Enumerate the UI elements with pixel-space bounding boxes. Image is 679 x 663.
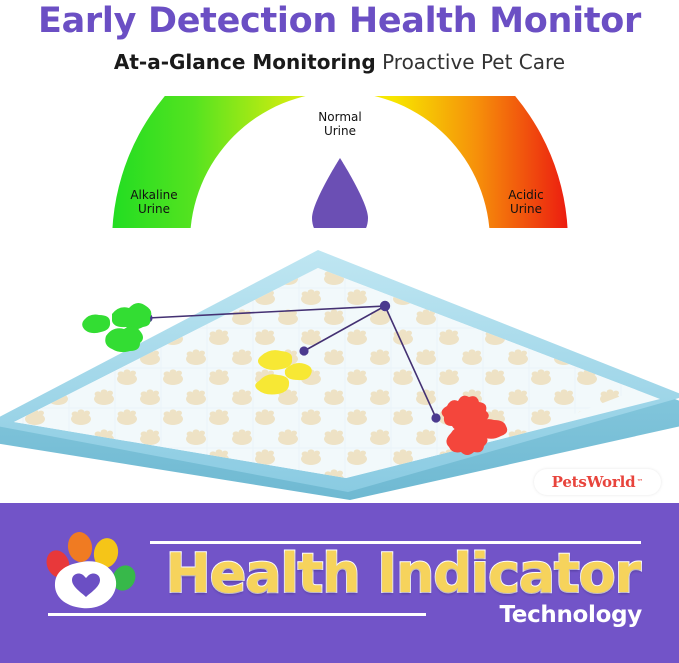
ph-gauge: Normal Urine Alkaline Urine Acidic Urine	[100, 96, 580, 246]
paw-toe-orange	[66, 530, 94, 563]
gauge-label-acidic: Acidic Urine	[478, 188, 574, 216]
node-red	[431, 413, 440, 422]
page-subtitle: At-a-Glance Monitoring Proactive Pet Car…	[0, 50, 679, 74]
product-infographic: Early Detection Health Monitor At-a-Glan…	[0, 0, 679, 663]
header: Early Detection Health Monitor At-a-Glan…	[0, 0, 679, 88]
subtitle-light: Proactive Pet Care	[382, 50, 565, 74]
health-paw-logo	[46, 528, 140, 610]
banner-subline: Technology	[330, 598, 642, 632]
node-center	[380, 301, 390, 311]
pee-pad-scene	[0, 228, 679, 500]
petsworld-brand-badge: PetsWorld™	[534, 469, 661, 495]
trademark-symbol: ™	[636, 478, 643, 486]
petsworld-brand-text: PetsWorld	[552, 474, 636, 490]
pee-pad-illustration	[0, 228, 679, 500]
gauge-label-normal: Normal Urine	[270, 110, 410, 138]
node-yellow	[299, 346, 308, 355]
gauge-label-alkaline: Alkaline Urine	[106, 188, 202, 216]
subtitle-bold: At-a-Glance Monitoring	[114, 50, 376, 74]
page-title: Early Detection Health Monitor	[0, 2, 679, 40]
